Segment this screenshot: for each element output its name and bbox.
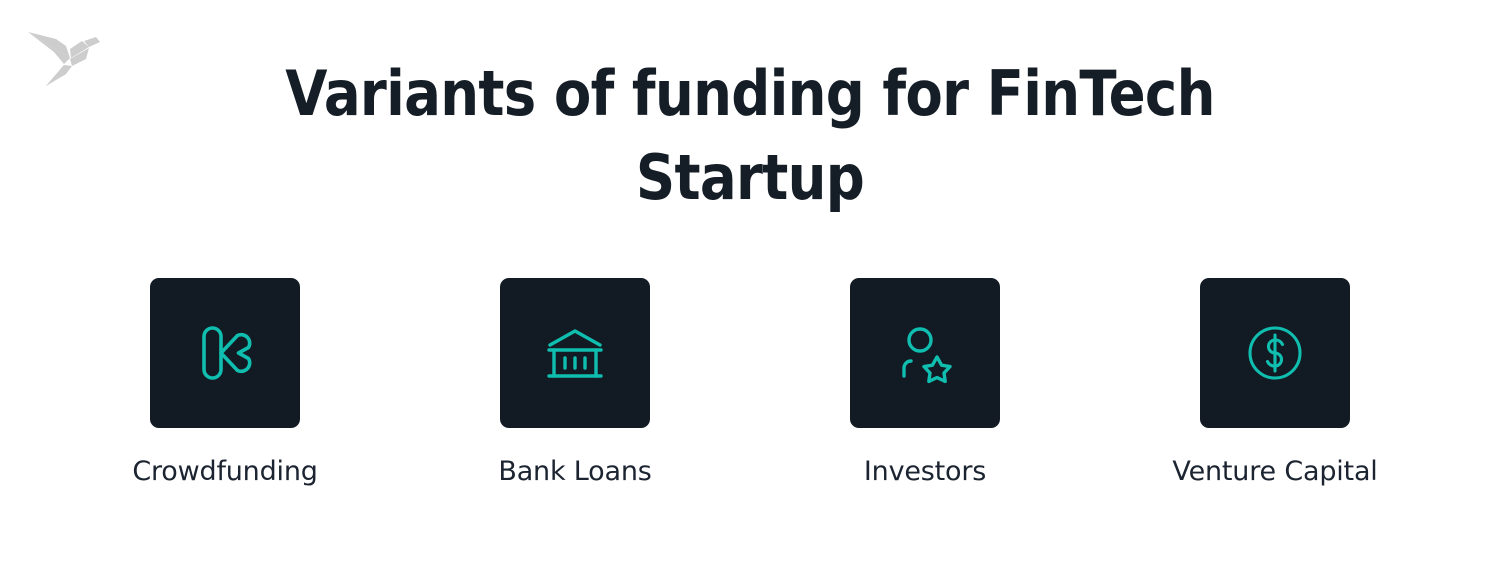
funding-variants-list: Crowdfunding Bank	[150, 278, 1350, 488]
funding-card-investors[interactable]: Investors	[850, 278, 1000, 488]
funding-card-label: Venture Capital	[1172, 456, 1377, 488]
kickstarter-k-icon	[193, 321, 257, 385]
bank-building-icon	[543, 321, 607, 385]
page-title-line-1: Variants of funding for FinTech	[90, 52, 1410, 136]
page-title: Variants of funding for FinTech Startup	[0, 52, 1500, 220]
funding-card-venture-capital[interactable]: Venture Capital	[1200, 278, 1350, 488]
funding-card-label: Bank Loans	[498, 456, 651, 488]
investors-icon-tile[interactable]	[850, 278, 1000, 428]
venture-capital-icon-tile[interactable]	[1200, 278, 1350, 428]
page-title-line-2: Startup	[90, 136, 1410, 220]
user-star-icon	[893, 321, 957, 385]
funding-card-label: Investors	[864, 456, 986, 488]
funding-card-crowdfunding[interactable]: Crowdfunding	[150, 278, 300, 488]
funding-card-bank-loans[interactable]: Bank Loans	[500, 278, 650, 488]
funding-card-label: Crowdfunding	[132, 456, 317, 488]
crowdfunding-icon-tile[interactable]	[150, 278, 300, 428]
dollar-circle-icon	[1243, 321, 1307, 385]
bank-loans-icon-tile[interactable]	[500, 278, 650, 428]
